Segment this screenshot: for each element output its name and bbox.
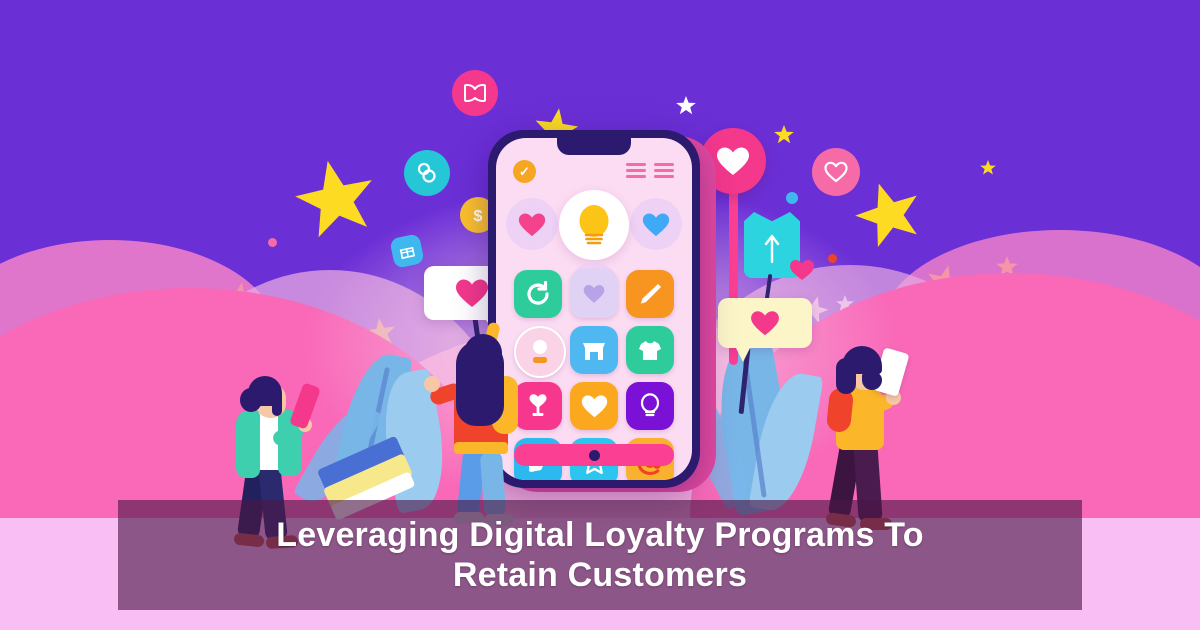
dot-decor bbox=[268, 238, 277, 247]
home-button[interactable] bbox=[589, 450, 600, 461]
menu-icon[interactable] bbox=[654, 163, 674, 178]
coin-badge: ✓ bbox=[513, 160, 536, 183]
dot-decor bbox=[828, 254, 837, 263]
poster-canvas: $ ✓ bbox=[0, 0, 1200, 630]
heart-icon-orange[interactable] bbox=[570, 382, 618, 430]
page-title: Leveraging Digital Loyalty Programs To R… bbox=[118, 500, 1082, 610]
phone-notch bbox=[557, 138, 631, 155]
menu-icon[interactable] bbox=[626, 163, 646, 178]
heart-icon-pink bbox=[518, 212, 546, 238]
shirt-icon[interactable] bbox=[626, 326, 674, 374]
page-title-line-1: Leveraging Digital Loyalty Programs To bbox=[276, 515, 923, 555]
person-left-cardigan bbox=[236, 410, 260, 478]
speech-bubble-right-tail bbox=[734, 344, 752, 362]
person-center-hand bbox=[424, 376, 440, 392]
person-center-belt bbox=[454, 442, 508, 454]
person-left-hair-bun bbox=[240, 388, 262, 412]
ribbon-badge bbox=[404, 150, 450, 196]
heart-outline-badge bbox=[812, 148, 860, 196]
lightbulb-icon[interactable] bbox=[626, 382, 674, 430]
heart-icon-blue bbox=[642, 212, 670, 238]
pencil-icon[interactable] bbox=[626, 270, 674, 318]
page-title-line-2: Retain Customers bbox=[453, 555, 747, 595]
book-badge bbox=[452, 70, 498, 116]
coin-badge-glyph: ✓ bbox=[519, 164, 530, 180]
heart-icon-faded[interactable] bbox=[570, 270, 618, 318]
person-right-hair-back bbox=[836, 358, 856, 394]
person-center-woman bbox=[420, 300, 550, 530]
dot-decor bbox=[786, 192, 798, 204]
person-left-phone bbox=[289, 382, 321, 430]
svg-text:$: $ bbox=[474, 208, 483, 225]
person-left-hair-strand bbox=[272, 394, 282, 416]
store-icon[interactable] bbox=[570, 326, 618, 374]
speech-bubble-right bbox=[718, 298, 812, 348]
lightbulb-icon[interactable] bbox=[559, 190, 629, 260]
heart-icon-small bbox=[789, 258, 815, 282]
